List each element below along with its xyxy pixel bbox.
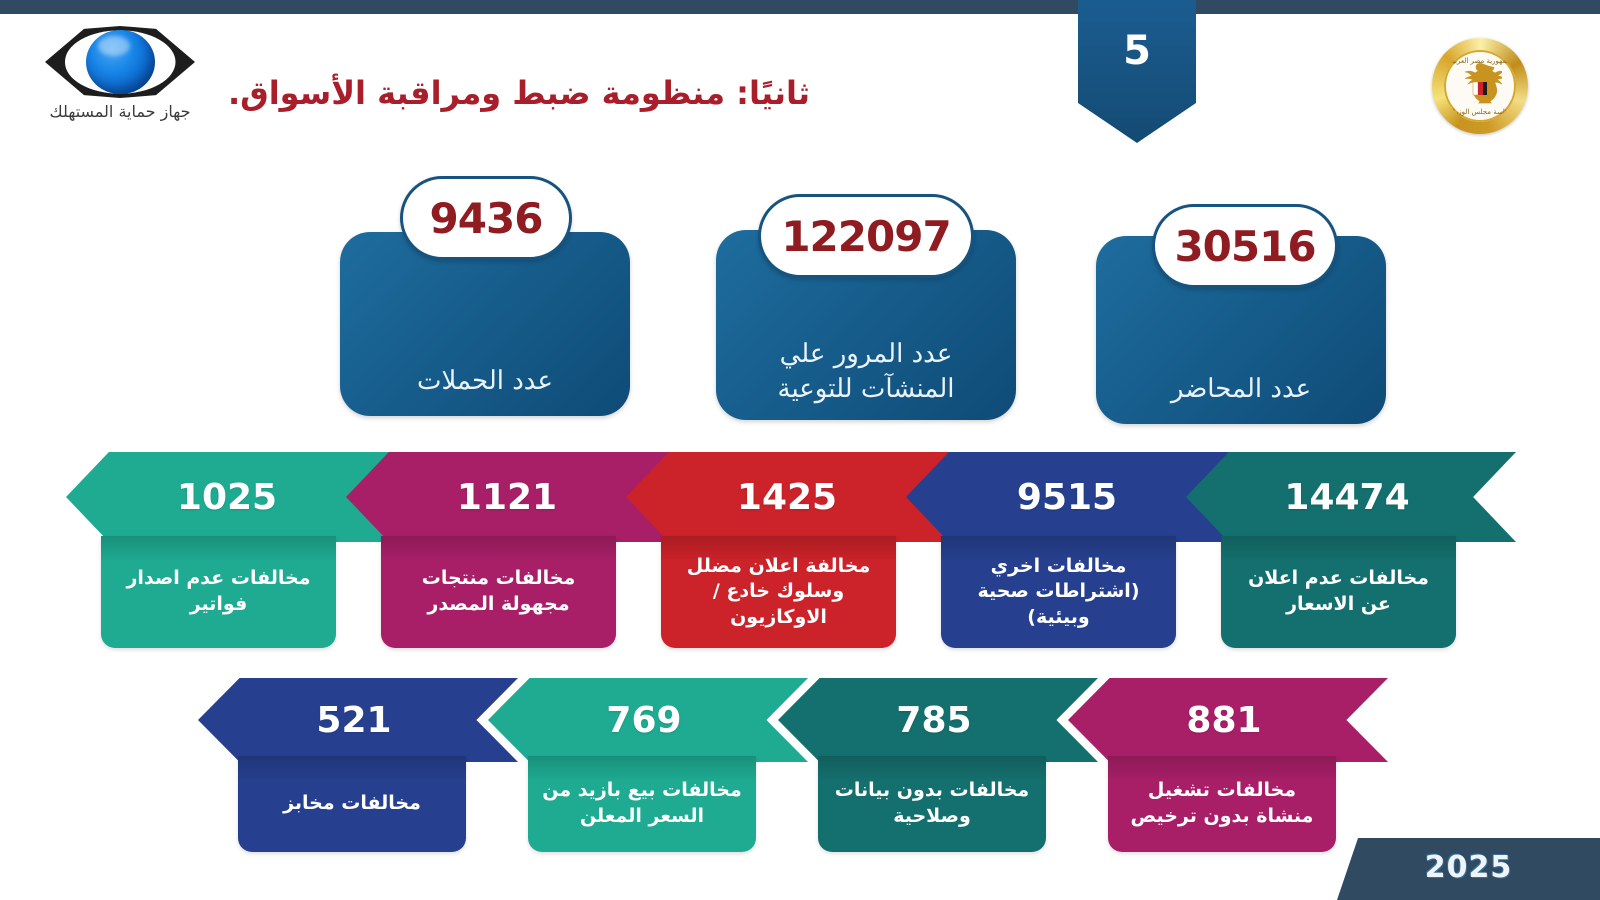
summary-card-value: 122097 bbox=[781, 212, 950, 261]
violation-label-box: مخالفات بيع بازيد من السعر المعلن bbox=[528, 756, 756, 852]
top-accent-bar bbox=[0, 0, 1600, 14]
violation-label-box: مخالفات عدم اصدار فواتير bbox=[101, 536, 336, 648]
summary-card-value: 30516 bbox=[1174, 222, 1315, 271]
violation-label-box: مخالفة اعلان مضلل وسلوك خادع / الاوكازيو… bbox=[661, 536, 896, 648]
violation-label-box: مخالفات مخابز bbox=[238, 756, 466, 852]
summary-card-label: عدد الحملات bbox=[355, 364, 616, 398]
violation-value: 881 bbox=[1186, 700, 1261, 741]
violation-value: 521 bbox=[316, 700, 391, 741]
violation-label-box: مخالفات تشغيل منشاة بدون ترخيص bbox=[1108, 756, 1336, 852]
violation-label: مخالفات عدم اصدار فواتير bbox=[110, 566, 326, 617]
violation-value: 9515 bbox=[1017, 477, 1117, 518]
page-number-ribbon: 5 bbox=[1078, 0, 1196, 143]
violation-label: مخالفات مخابز bbox=[247, 791, 457, 817]
violation-label: مخالفات عدم اعلان عن الاسعار bbox=[1230, 566, 1446, 617]
violation-value: 1121 bbox=[457, 477, 557, 518]
eagle-of-saladin-icon bbox=[1458, 60, 1502, 112]
violation-value: 769 bbox=[606, 700, 681, 741]
violation-label: مخالفات بيع بازيد من السعر المعلن bbox=[537, 778, 747, 829]
violation-label: مخالفات اخري (اشتراطات صحية وبيئية) bbox=[950, 554, 1166, 631]
summary-cards-row: عدد الحملات 9436 عدد المرور علي المنشآت … bbox=[0, 176, 1600, 416]
violation-arrow: 521 bbox=[198, 678, 518, 762]
violation-arrow: 881 bbox=[1068, 678, 1388, 762]
summary-card-reports: عدد المحاضر 30516 bbox=[1096, 204, 1386, 424]
violation-label: مخالفات منتجات مجهولة المصدر bbox=[390, 566, 606, 617]
violation-value: 1425 bbox=[737, 477, 837, 518]
violation-value: 1025 bbox=[177, 477, 277, 518]
violation-label-box: مخالفات عدم اعلان عن الاسعار bbox=[1221, 536, 1456, 648]
violation-arrow: 785 bbox=[778, 678, 1098, 762]
violations-row-1: 1025 مخالفات عدم اصدار فواتير 1121 مخالف… bbox=[0, 452, 1600, 662]
violation-arrow: 769 bbox=[488, 678, 808, 762]
violation-label-box: مخالفات اخري (اشتراطات صحية وبيئية) bbox=[941, 536, 1176, 648]
violation-value: 14474 bbox=[1284, 477, 1409, 518]
page-title: ثانيًا: منظومة ضبط ومراقبة الأسواق. bbox=[0, 74, 1078, 112]
year-banner: 2025 bbox=[1337, 838, 1600, 900]
violation-label-box: مخالفات منتجات مجهولة المصدر bbox=[381, 536, 616, 648]
summary-card-campaigns: عدد الحملات 9436 bbox=[340, 176, 630, 416]
summary-card-awareness-visits: عدد المرور علي المنشآت للتوعية 122097 bbox=[716, 194, 1016, 420]
violation-label: مخالفة اعلان مضلل وسلوك خادع / الاوكازيو… bbox=[670, 554, 886, 631]
year-label: 2025 bbox=[1425, 850, 1513, 885]
egypt-cabinet-emblem: جمهورية مصر العربية رئاسة مجلس الوزراء bbox=[1432, 38, 1528, 134]
violation-arrow: 14474 bbox=[1186, 452, 1516, 542]
violation-label: مخالفات بدون بيانات وصلاحية bbox=[827, 778, 1037, 829]
page-number: 5 bbox=[1123, 28, 1151, 74]
summary-card-label: عدد المرور علي المنشآت للتوعية bbox=[731, 337, 1001, 406]
summary-card-label: عدد المحاضر bbox=[1111, 372, 1372, 406]
violation-label: مخالفات تشغيل منشاة بدون ترخيص bbox=[1117, 778, 1327, 829]
violation-value: 785 bbox=[896, 700, 971, 741]
summary-card-value: 9436 bbox=[430, 194, 543, 243]
emblem-bottom-text: رئاسة مجلس الوزراء bbox=[1444, 108, 1517, 116]
slide-canvas: 5 جهاز حماية المستهلك جمهورية مصر العربي… bbox=[0, 0, 1600, 900]
violation-label-box: مخالفات بدون بيانات وصلاحية bbox=[818, 756, 1046, 852]
